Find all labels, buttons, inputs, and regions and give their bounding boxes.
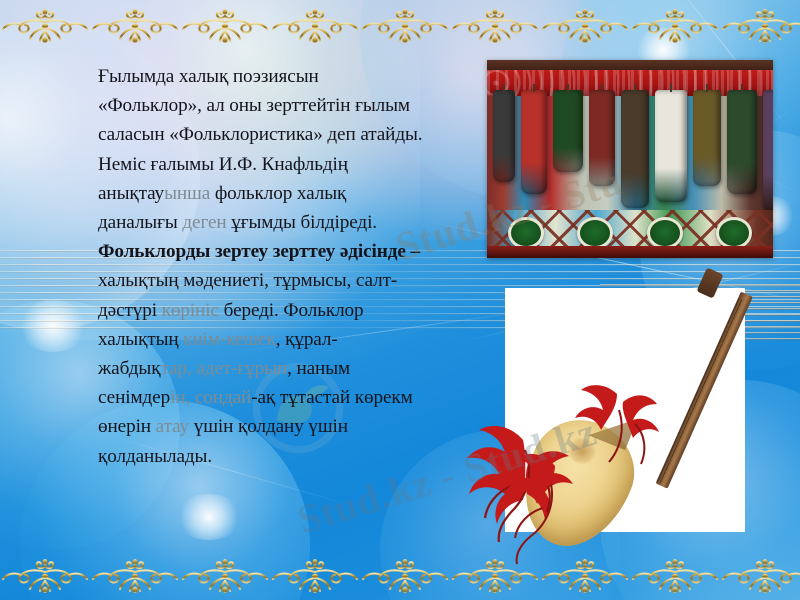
- body-text-line: Неміс ғалымы И.Ф. Кнафльдің: [98, 150, 498, 179]
- body-text-run: үшін қолдану үшін: [189, 416, 348, 437]
- hanging-costume: [621, 90, 649, 208]
- hanging-costume: [655, 90, 687, 202]
- body-text-run: халықтың: [98, 329, 183, 350]
- body-text-run: фольклор халық: [210, 183, 346, 204]
- dombra-instrument-photo: [505, 288, 745, 532]
- body-text-run: ін, сондай: [170, 387, 251, 408]
- kazakh-yurt-costumes-photo: [487, 60, 773, 258]
- body-text-run: ұғымды білдіреді.: [227, 212, 377, 233]
- body-text-line: анықтауынша фольклор халық: [98, 179, 498, 208]
- body-text-run: жабдық: [98, 358, 160, 379]
- slide-body-text: Ғылымда халық поэзиясын«Фольклор», ал он…: [98, 62, 498, 471]
- body-text-line: қолданылады.: [98, 442, 498, 471]
- body-text-run: атау: [156, 416, 189, 437]
- body-text-run: Ғылымда халық поэзиясын: [98, 66, 319, 87]
- hanging-costume: [727, 90, 757, 194]
- body-text-run: дәстүрі: [98, 300, 162, 321]
- cushion: [716, 217, 752, 249]
- cushion: [508, 217, 544, 249]
- body-text-run: қолданылады.: [98, 446, 212, 467]
- hanging-costume: [693, 90, 721, 186]
- body-text-line: сенімдерін, сондай-ақ тұтастай көрекм: [98, 383, 498, 412]
- body-text-run: , құрал-: [276, 329, 338, 350]
- body-text-run: анықтау: [98, 183, 164, 204]
- hanging-costumes: [487, 90, 773, 220]
- cushion: [647, 217, 683, 249]
- body-text-run: киім-кешек: [183, 329, 275, 350]
- body-text-line: саласын «Фольклористика» деп атайды.: [98, 120, 498, 149]
- body-text-line: халықтың мәдениеті, тұрмысы, салт-: [98, 266, 498, 295]
- body-text-line: Ғылымда халық поэзиясын: [98, 62, 498, 91]
- dombra-strings: [657, 298, 743, 483]
- body-text-line: дәстүрі көрініс береді. Фольклор: [98, 296, 498, 325]
- body-text-line: «Фольклор», ал оны зерттейтін ғылым: [98, 91, 498, 120]
- body-text-run: өнерін: [98, 416, 156, 437]
- body-text-run: ынша: [164, 183, 210, 204]
- body-text-run: даналығы: [98, 212, 182, 233]
- yurt-carpet-floor: [487, 246, 773, 258]
- body-text-line: жабдықтар, әдет-ғұрып, наным: [98, 354, 498, 383]
- body-text-line: халықтың киім-кешек, құрал-: [98, 325, 498, 354]
- body-text-run: деген: [182, 212, 226, 233]
- body-text-run: халықтың мәдениеті, тұрмысы, салт-: [98, 270, 397, 291]
- body-text-run: сенімдер: [98, 387, 170, 408]
- yurt-cushions: [491, 216, 769, 250]
- hanging-costume: [763, 90, 773, 212]
- body-text-run: саласын «Фольклористика» деп атайды.: [98, 124, 423, 145]
- body-text-run: -ақ тұтастай көрекм: [251, 387, 412, 408]
- body-text-line: Фольклорды зертеу зерттеу әдісінде –: [98, 237, 498, 266]
- body-text-line: өнерін атау үшін қолдану үшін: [98, 412, 498, 441]
- hanging-costume: [521, 90, 547, 194]
- body-text-run: «Фольклор», ал оны зерттейтін ғылым: [98, 95, 410, 116]
- cushion: [577, 217, 613, 249]
- body-text-run: , наным: [287, 358, 350, 379]
- body-text-run: тар, әдет-ғұрып: [160, 358, 287, 379]
- body-text-run: береді. Фольклор: [219, 300, 364, 321]
- body-text-run: Неміс ғалымы И.Ф. Кнафльдің: [98, 154, 348, 175]
- hanging-costume: [553, 90, 583, 172]
- body-text-run: Фольклорды зертеу зерттеу әдісінде –: [98, 241, 420, 262]
- hanging-costume: [589, 90, 615, 186]
- presentation-slide: Stud.kz - Stud.kz Stud.kz - Stu Ғылымда …: [0, 0, 800, 600]
- body-text-run: көрініс: [162, 300, 219, 321]
- body-text-line: даналығы деген ұғымды білдіреді.: [98, 208, 498, 237]
